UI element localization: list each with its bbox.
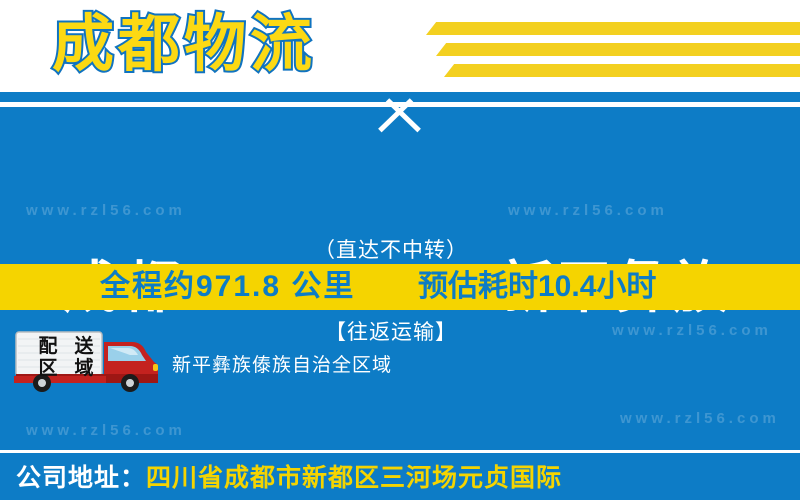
info-bar: 全程约971.8 公里 预估耗时10.4小时 <box>0 264 800 310</box>
watermark: www.rzl56.com <box>508 202 668 219</box>
address-label: 公司地址： <box>16 464 146 492</box>
stripe-2 <box>436 43 800 56</box>
decorative-stripes <box>380 0 800 92</box>
stripe-1 <box>426 22 800 35</box>
truck-label-char-2: 送 <box>66 336 102 358</box>
watermark: www.rzl56.com <box>620 410 780 427</box>
coverage-area-text: 新平彝族傣族自治全区域 <box>172 350 392 377</box>
logistics-banner: 成都物流 www.rzl56.com www.rzl56.com www.rzl… <box>0 0 800 500</box>
truck-label: 配 送 区 域 <box>30 336 102 380</box>
header-band: 成都物流 <box>0 0 800 92</box>
watermark: www.rzl56.com <box>26 422 186 439</box>
main-body: www.rzl56.com www.rzl56.com www.rzl56.co… <box>0 92 800 500</box>
page-title: 成都物流 <box>52 4 316 86</box>
address-value: 四川省成都市新都区三河场元贞国际 <box>146 464 562 492</box>
route-roundtrip-note: 【往返运输】 <box>288 316 494 346</box>
duration-text: 预估耗时10.4小时 <box>418 268 656 306</box>
watermark: www.rzl56.com <box>26 202 186 219</box>
stripe-3 <box>444 64 800 77</box>
company-address: 公司地址：四川省成都市新都区三河场元贞国际 <box>16 460 562 496</box>
route-direct-note: （直达不中转） <box>288 234 494 264</box>
truck-label-char-1: 配 <box>30 336 66 358</box>
watermark: www.rzl56.com <box>612 322 772 339</box>
chevron-down-icon <box>352 100 448 136</box>
delivery-truck-icon: 配 送 区 域 <box>12 330 160 392</box>
truck-label-char-4: 域 <box>66 358 102 380</box>
footer-divider <box>0 450 800 453</box>
truck-label-char-3: 区 <box>30 358 66 380</box>
distance-text: 全程约971.8 公里 <box>100 268 355 306</box>
